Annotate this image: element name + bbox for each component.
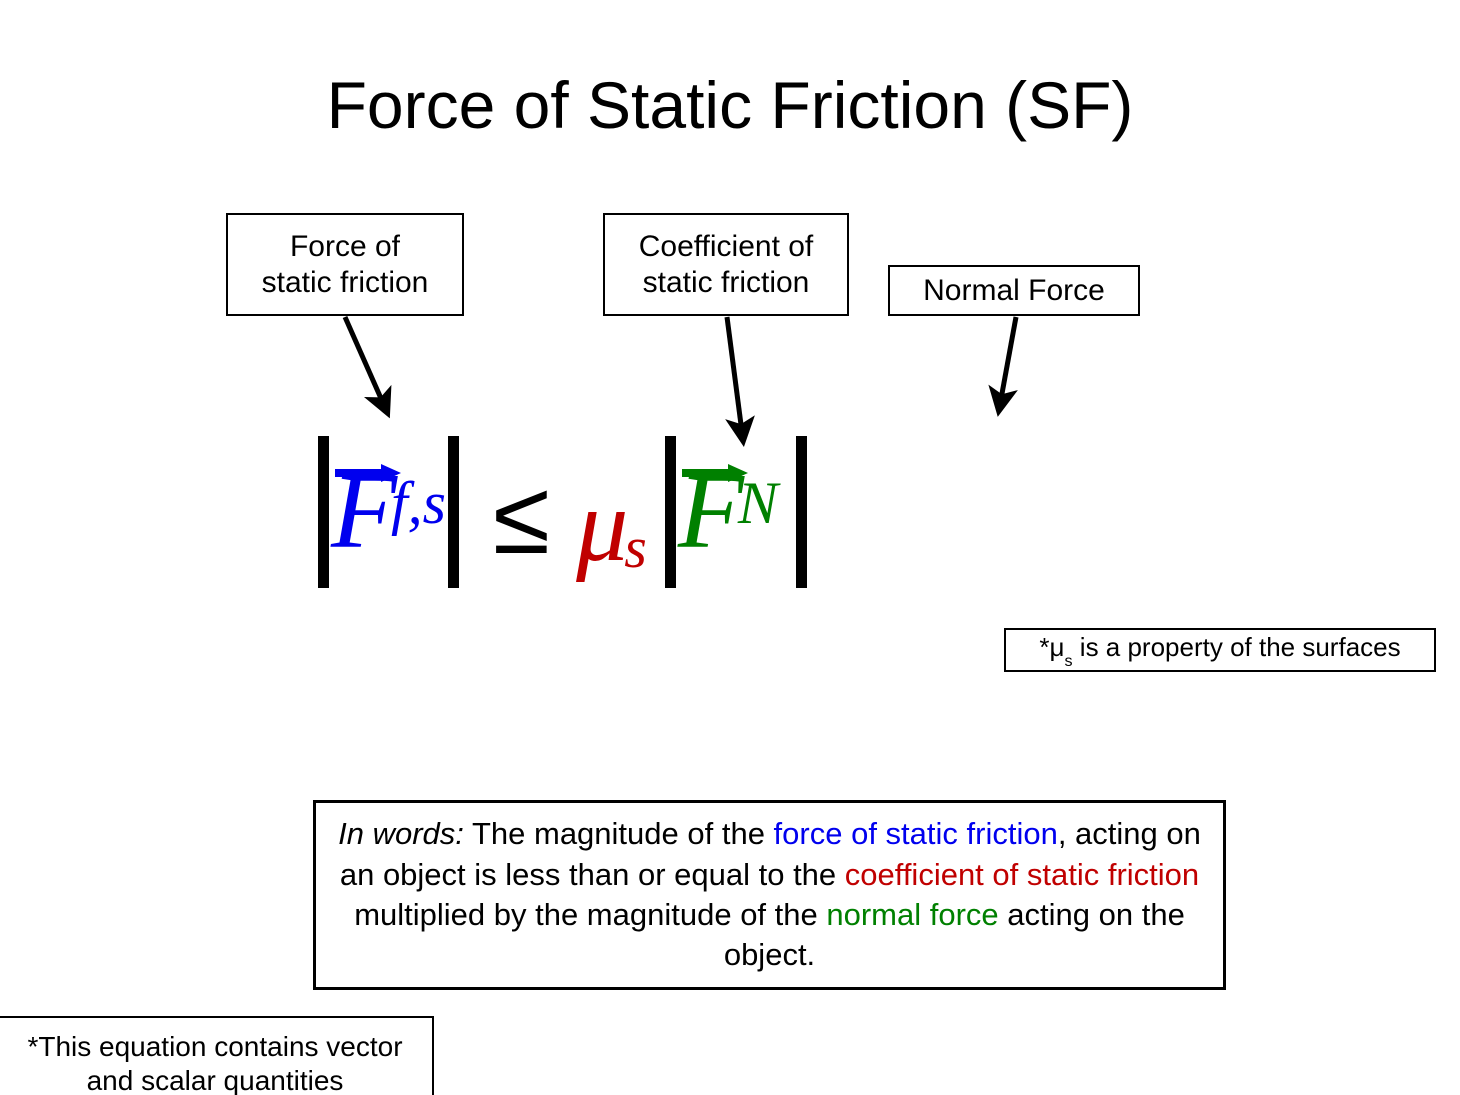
abs-bar-right-close: [796, 436, 807, 588]
note-vector-line2: and scalar quantities: [87, 1065, 344, 1095]
abs-bar-right-open: [665, 436, 676, 588]
superscript-friction: f,s: [391, 473, 446, 533]
note-mu-rest: is a property of the surfaces: [1073, 632, 1401, 662]
callout-force-of-static-friction: Force of static friction: [226, 213, 464, 316]
callout-force-line1: Force of: [290, 230, 400, 263]
callout-coefficient-line2: static friction: [643, 266, 810, 299]
in-words-highlight-friction: force of static friction: [774, 816, 1058, 851]
term-force-static-friction: Ff,s: [329, 458, 448, 566]
note-vector-scalar: *This equation contains vector and scala…: [0, 1016, 434, 1095]
in-words-text: In words: The magnitude of the force of …: [324, 814, 1215, 975]
abs-bar-left-close: [448, 436, 459, 588]
note-mu-property: *μs is a property of the surfaces: [1004, 628, 1436, 672]
note-mu-subscript: s: [1065, 652, 1073, 670]
arrow-to-coefficient-term: [727, 317, 743, 440]
note-vector-line1: *This equation contains vector: [27, 1031, 402, 1062]
callout-normal-force: Normal Force: [888, 265, 1140, 316]
subscript-mu-s: s: [624, 519, 647, 577]
slide-canvas: Force of Static Friction (SF) Force of s…: [0, 0, 1460, 1095]
callout-force-line2: static friction: [262, 266, 429, 299]
in-words-part3: multiplied by the magnitude of the: [354, 897, 826, 932]
superscript-normal: N: [738, 473, 778, 533]
arrow-to-normal-force-term: [999, 317, 1016, 410]
abs-bar-left-open: [318, 436, 329, 588]
arrow-to-friction-term: [345, 317, 387, 412]
callout-normal-line1: Normal Force: [923, 273, 1105, 308]
in-words-highlight-coefficient: coefficient of static friction: [845, 857, 1199, 892]
page-title: Force of Static Friction (SF): [0, 72, 1460, 138]
in-words-highlight-normal: normal force: [826, 897, 998, 932]
term-normal-force: FN: [676, 458, 780, 566]
in-words-box: In words: The magnitude of the force of …: [313, 800, 1226, 990]
callout-coefficient-line1: Coefficient of: [639, 230, 814, 263]
equation: Ff,s ≤ μs FN: [318, 432, 807, 592]
in-words-label: In words:: [338, 816, 464, 851]
callout-coefficient-of-static-friction: Coefficient of static friction: [603, 213, 849, 316]
symbol-mu: μ: [576, 474, 628, 578]
in-words-part1: The magnitude of the: [464, 816, 774, 851]
relation-less-than-or-equal: ≤: [493, 466, 550, 570]
note-mu-prefix: *μ: [1039, 632, 1064, 662]
